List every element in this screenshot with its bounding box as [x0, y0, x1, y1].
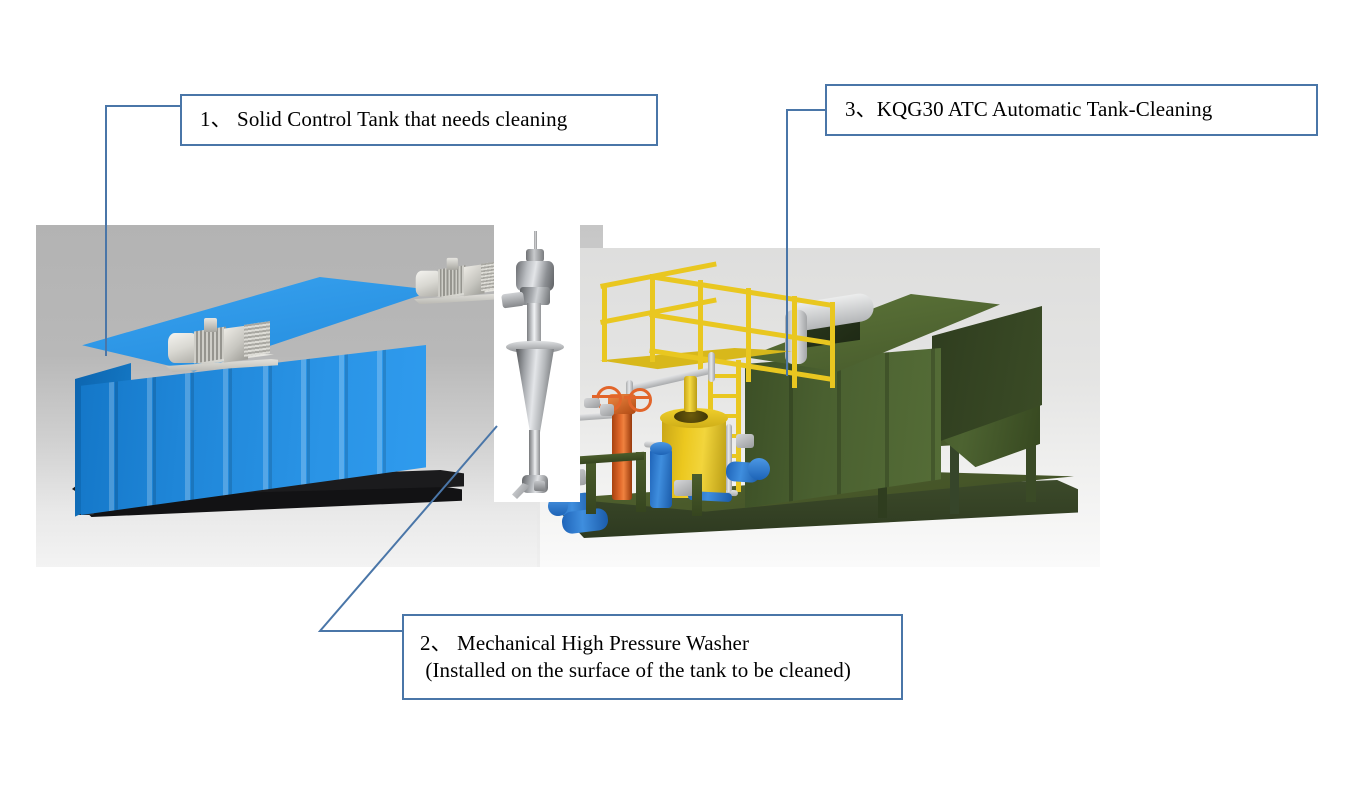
callout-2-line-2: (Installed on the surface of the tank to… [404, 657, 901, 684]
callout-1-line-1: 1、 Solid Control Tank that needs cleanin… [182, 106, 656, 133]
leader-line-1 [106, 106, 180, 356]
callout-box-3[interactable]: 3、KQG30 ATC Automatic Tank-Cleaning [825, 84, 1318, 136]
slide-canvas: 1、 Solid Control Tank that needs cleanin… [0, 0, 1360, 792]
leader-line-3 [787, 110, 825, 376]
callout-3-line-1: 3、KQG30 ATC Automatic Tank-Cleaning [827, 96, 1316, 123]
callout-2-line-1: 2、 Mechanical High Pressure Washer [404, 630, 901, 657]
callout-box-1[interactable]: 1、 Solid Control Tank that needs cleanin… [180, 94, 658, 146]
leader-line-2 [320, 426, 497, 631]
callout-box-2[interactable]: 2、 Mechanical High Pressure Washer (Inst… [402, 614, 903, 700]
